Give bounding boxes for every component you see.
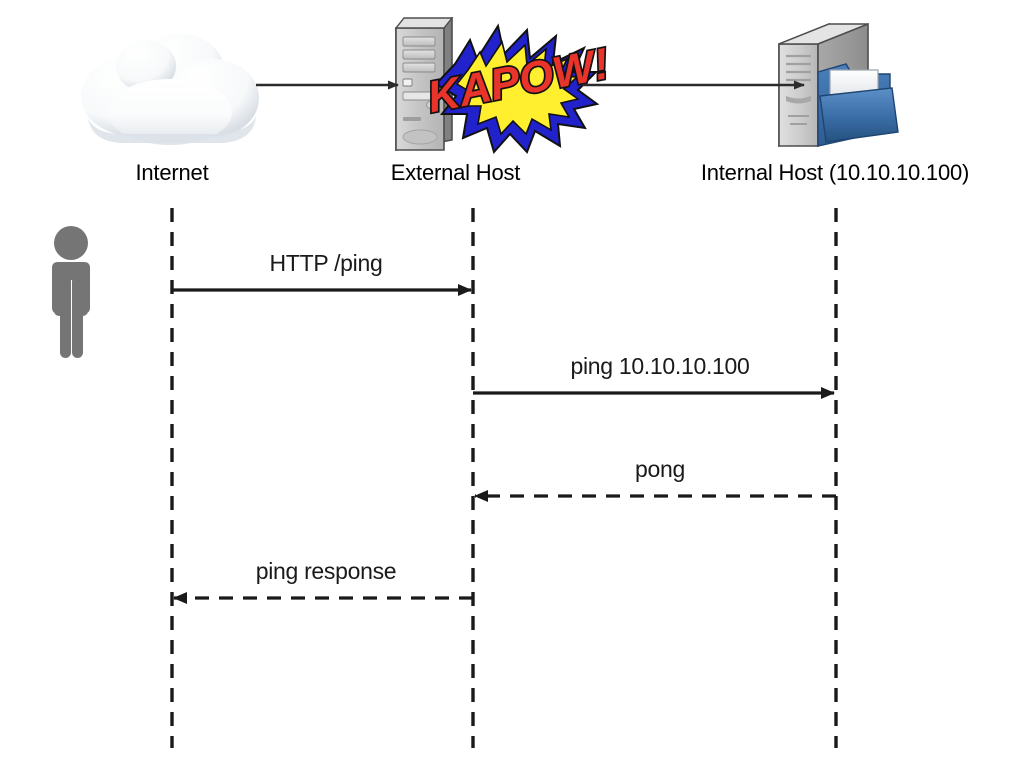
message-label-ping-response: ping response (176, 558, 476, 585)
sequence-layer (0, 0, 1024, 768)
message-label-pong: pong (500, 456, 820, 483)
sequence-diagram-canvas: KAPOW! (0, 0, 1024, 768)
message-label-ping-ip: ping 10.10.10.100 (500, 353, 820, 380)
message-label-http-ping: HTTP /ping (176, 250, 476, 277)
